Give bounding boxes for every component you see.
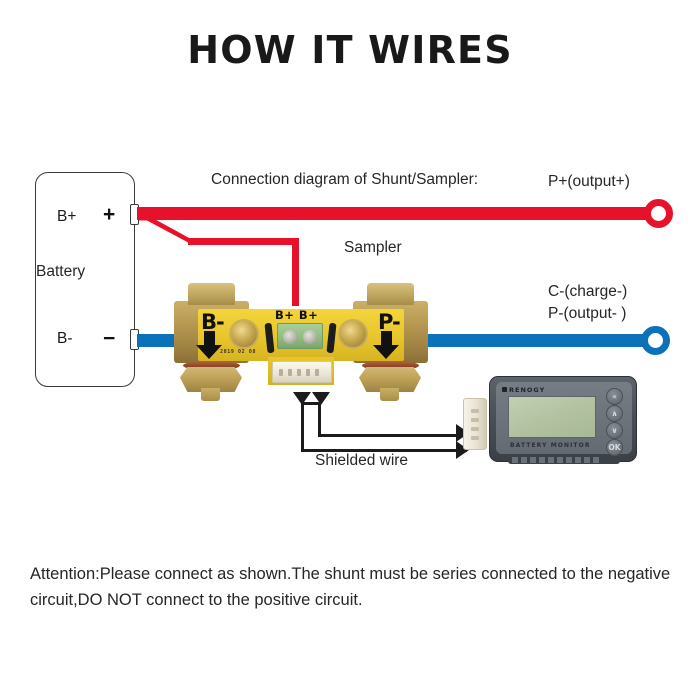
- connector-pins-icon: [279, 369, 319, 376]
- shunt-screw-boss-right: [338, 319, 368, 349]
- shunt-terminal-block-label: B+ B+: [275, 308, 318, 322]
- monitor-up-button[interactable]: ∧: [606, 405, 623, 422]
- battery-positive-label: B+: [57, 208, 76, 226]
- shunt-signal-connector: [272, 361, 332, 383]
- shunt-stud-left: [201, 388, 220, 401]
- page-root: HOW IT WIRES Battery B+ + B- − Connectio…: [0, 0, 700, 700]
- shielded-wire-vertical-outer: [301, 402, 304, 452]
- terminal-screw-1-icon: [283, 330, 297, 344]
- battery-monitor-device: RENOGY BATTERY MONITOR « ∧ ∨ OK: [489, 376, 637, 462]
- positive-wire-branch-diagonal: [139, 216, 191, 244]
- positive-ring-terminal-icon: [644, 199, 673, 228]
- terminal-screw-2-icon: [303, 330, 317, 344]
- shunt-top-nut-right: [367, 283, 414, 305]
- monitor-cable-connector: [463, 398, 487, 450]
- shunt-top-nut-left: [188, 283, 235, 305]
- shunt-terminal-block: [277, 323, 323, 349]
- monitor-ok-button[interactable]: OK: [606, 439, 623, 456]
- negative-ring-terminal-icon: [641, 326, 670, 355]
- battery-label: Battery: [36, 263, 85, 281]
- shielded-wire-horizontal-outer: [301, 449, 467, 452]
- monitor-brand-label: RENOGY: [509, 386, 545, 394]
- monitor-down-button[interactable]: ∨: [606, 422, 623, 439]
- page-title: HOW IT WIRES: [0, 28, 700, 72]
- monitor-front-panel: RENOGY BATTERY MONITOR « ∧ ∨ OK: [496, 382, 632, 454]
- output-charge-negative-label: C-(charge-): [548, 283, 627, 301]
- connection-diagram-caption: Connection diagram of Shunt/Sampler:: [211, 171, 478, 189]
- output-negative-label: P-(output- ): [548, 305, 626, 323]
- shunt-assembly: B- P- B+ B+ 2019 02 08: [172, 283, 430, 395]
- positive-wire-branch-horizontal: [188, 238, 298, 245]
- shunt-screw-boss-left: [229, 319, 259, 349]
- monitor-lcd-screen: [508, 396, 596, 438]
- battery-negative-label: B-: [57, 330, 73, 348]
- shielded-wire-label: Shielded wire: [315, 452, 408, 470]
- monitor-subtitle-label: BATTERY MONITOR: [510, 442, 591, 449]
- monitor-back-button[interactable]: «: [606, 388, 623, 405]
- battery-plus-symbol: +: [103, 203, 115, 227]
- shunt-pcb-print: 2019 02 08: [220, 349, 256, 355]
- positive-wire-main: [137, 207, 648, 220]
- shunt-stud-right: [380, 388, 399, 401]
- battery-minus-symbol: −: [103, 327, 115, 351]
- monitor-vents-icon: [512, 457, 599, 463]
- output-positive-label: P+(output+): [548, 173, 630, 191]
- shielded-wire-horizontal-inner: [318, 434, 468, 437]
- attention-note: Attention:Please connect as shown.The sh…: [30, 562, 675, 613]
- sampler-label: Sampler: [344, 239, 402, 257]
- shielded-wire-vertical-inner: [318, 403, 321, 437]
